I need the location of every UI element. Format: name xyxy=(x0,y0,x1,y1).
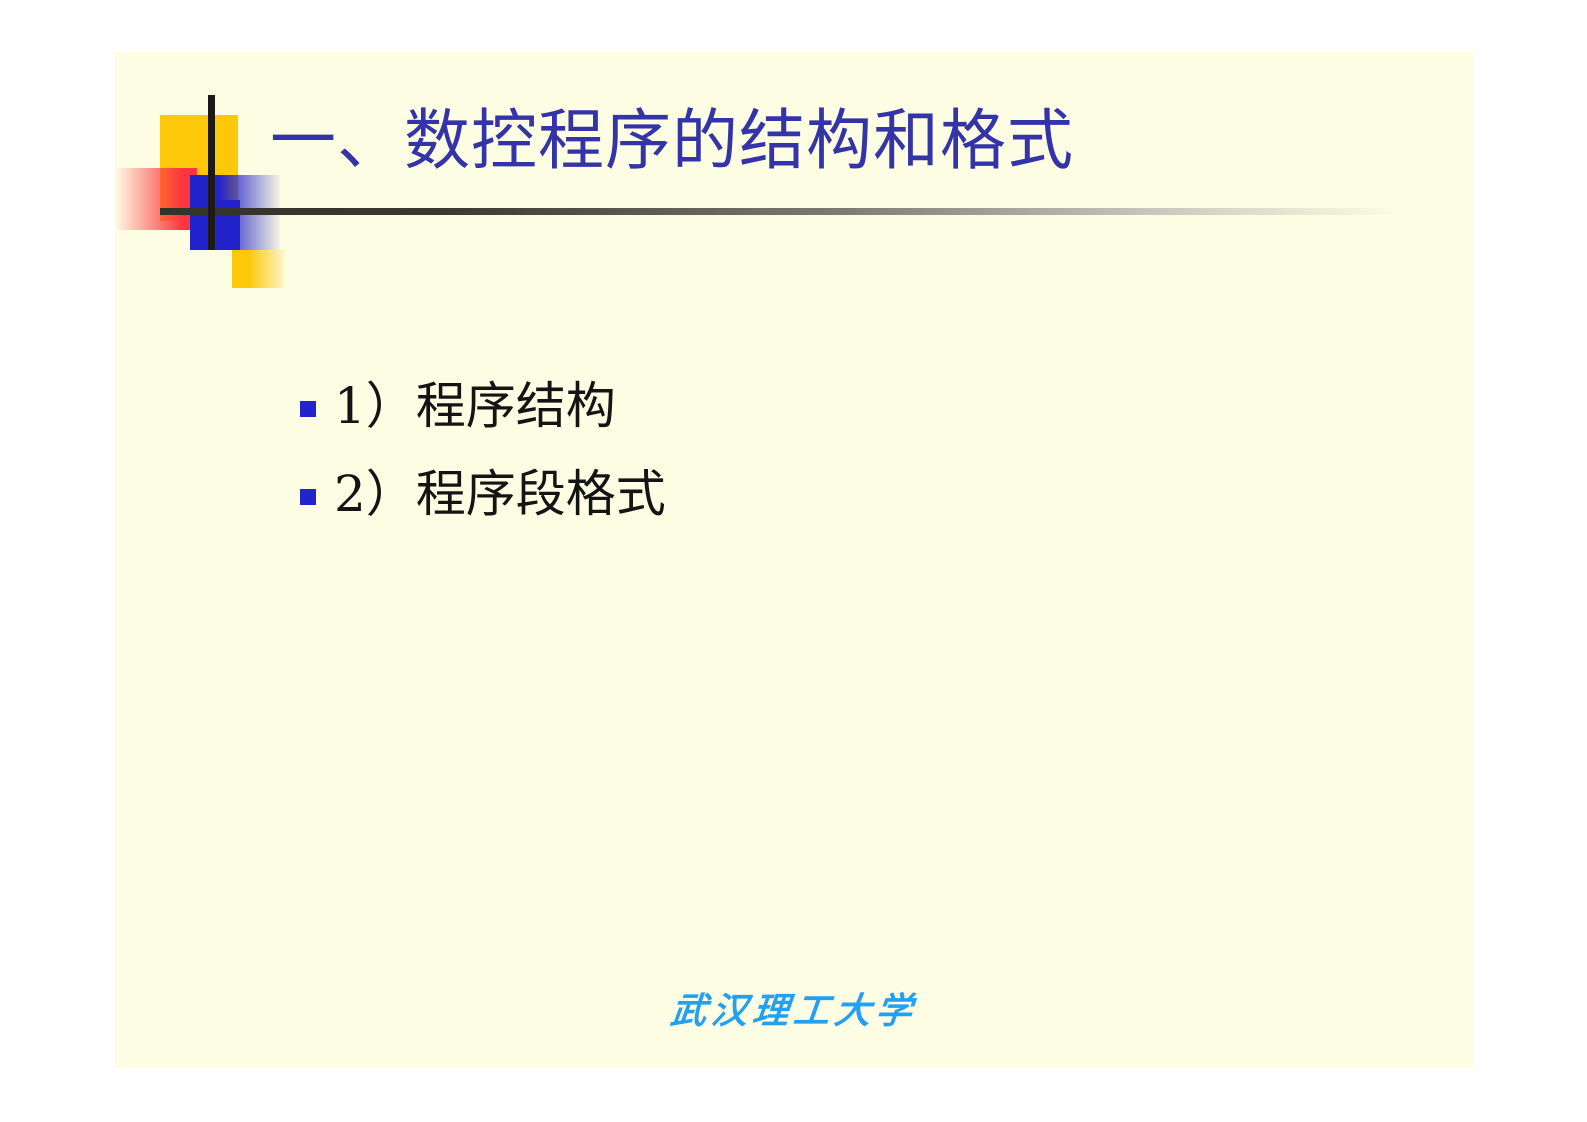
square-bullet-icon xyxy=(300,489,316,505)
list-item: 1）程序结构 xyxy=(300,362,1300,450)
blue-square-gradient-shape xyxy=(190,175,280,250)
red-square-shape xyxy=(115,168,197,230)
footer-logo: 武汉理工大学 xyxy=(115,982,1473,1034)
list-item: 2）程序段格式 xyxy=(300,450,1300,538)
square-bullet-icon xyxy=(300,401,316,417)
slide-title: 一、数控程序的结构和格式 xyxy=(270,100,1430,182)
list-item-label: 1）程序结构 xyxy=(334,377,616,435)
blue-square-solid-shape xyxy=(190,200,240,250)
slide-bullet-list: 1）程序结构 2）程序段格式 xyxy=(300,362,1300,538)
horizontal-rule-divider xyxy=(160,208,1400,215)
vertical-rule-divider xyxy=(208,95,215,250)
yellow-square-top-shape xyxy=(160,115,238,221)
university-logo-text: 武汉理工大学 xyxy=(668,982,919,1034)
list-item-label: 2）程序段格式 xyxy=(334,465,666,523)
yellow-square-bottom-shape xyxy=(232,250,286,288)
presentation-slide: 一、数控程序的结构和格式 1）程序结构 2）程序段格式 武汉理工大学 xyxy=(115,52,1473,1068)
